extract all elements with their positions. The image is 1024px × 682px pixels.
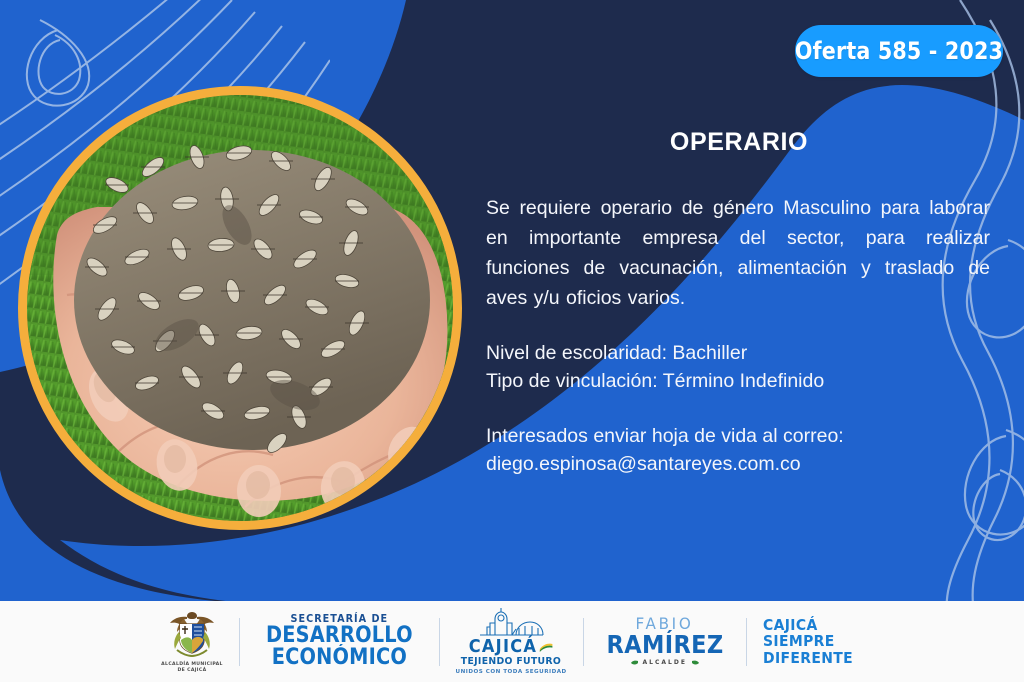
job-content: OPERARIO Se requiere operario de género …: [486, 128, 992, 478]
footer-logo-bar: ALCALDÍA MUNICIPAL DE CAJICÁ SECRETARÍA …: [0, 601, 1024, 682]
contact-prompt: Interesados enviar hoja de vida al corre…: [486, 422, 992, 450]
slogan-line-1: CAJICÁ: [763, 617, 853, 634]
cajica-siempre-diferente-logo: CAJICÁ SIEMPRE DIFERENTE: [747, 606, 879, 678]
secretaria-desarrollo-economico-logo: SECRETARÍA DE DESARROLLO ECONÓMICO: [240, 606, 439, 678]
job-description: Se requiere operario de género Masculino…: [486, 193, 990, 313]
photo-circle: [27, 95, 453, 521]
cajica-coat-of-arms-icon: [168, 610, 216, 660]
tejiendo-futuro-label: TEJIENDO FUTURO: [461, 656, 561, 668]
contract-type: Tipo de vinculación: Término Indefinido: [486, 367, 992, 395]
secretaria-line1: DESARROLLO: [266, 625, 413, 647]
job-offer-poster: Oferta 585 - 2023: [0, 0, 1024, 682]
mayor-fabio-ramirez-logo: FABIO RAMÍREZ ALCALDE: [584, 606, 746, 678]
leaf-right-icon: [691, 660, 699, 666]
cajica-wordmark: CAJICÁ: [469, 637, 554, 656]
education-level: Nivel de escolaridad: Bachiller: [486, 339, 992, 367]
page-title: OPERARIO: [486, 128, 992, 157]
offer-badge: Oferta 585 - 2023: [795, 25, 1003, 77]
photo-circle-frame: [18, 86, 462, 530]
cajica-church-icon: [475, 607, 547, 637]
contact-email[interactable]: diego.espinosa@santareyes.com.co: [486, 450, 992, 478]
secretaria-line2: ECONÓMICO: [266, 647, 413, 669]
coat-of-arms-logo: ALCALDÍA MUNICIPAL DE CAJICÁ: [145, 606, 239, 678]
offer-badge-label: Oferta 585 - 2023: [795, 37, 1003, 65]
coat-of-arms-caption: ALCALDÍA MUNICIPAL DE CAJICÁ: [161, 662, 223, 674]
slogan-line-2: SIEMPRE: [763, 633, 853, 650]
slogan-line-3: DIFERENTE: [763, 650, 853, 667]
leaf-left-icon: [631, 660, 639, 666]
cajica-tejiendo-futuro-logo: CAJICÁ TEJIENDO FUTURO UNIDOS CON TODA S…: [440, 606, 583, 678]
mayor-last-name: RAMÍREZ: [606, 632, 723, 658]
mayor-role: ALCALDE: [631, 658, 699, 668]
hands-holding-sunflower-seeds-image: [27, 95, 453, 521]
flag-swoosh-icon: [539, 642, 553, 652]
tejiendo-futuro-tagline: UNIDOS CON TODA SEGURIDAD: [456, 668, 567, 676]
